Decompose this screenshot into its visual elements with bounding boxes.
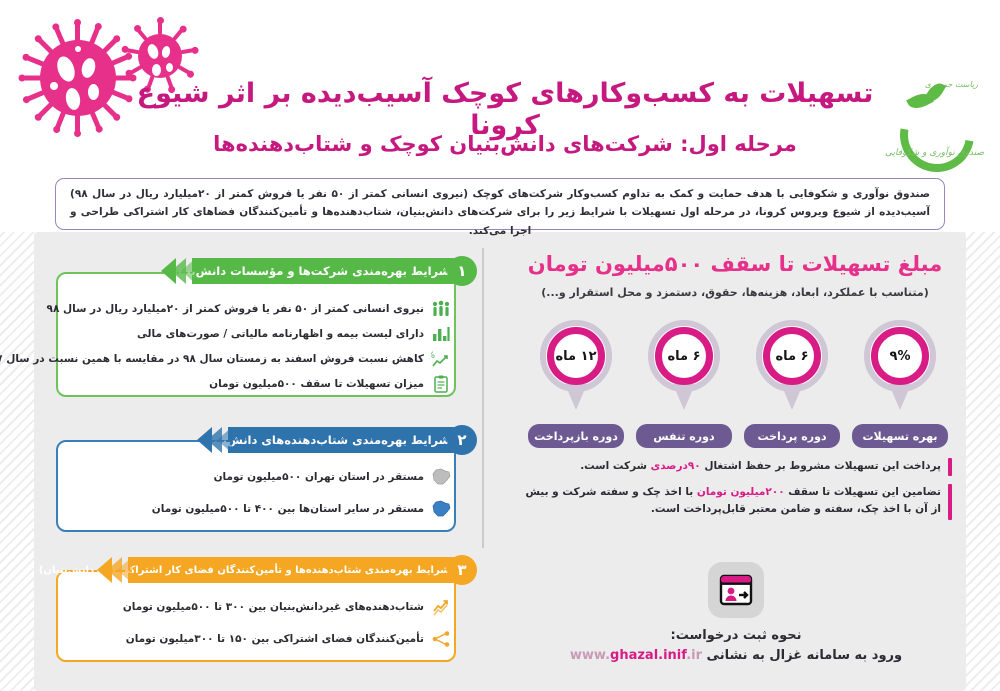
- list-item: نیروی انسانی کمتر از ۵۰ نفر یا فروش کمتر…: [64, 298, 456, 320]
- pin-value: ۹%: [890, 349, 911, 364]
- banner-chevrons-2: [176, 427, 232, 453]
- column-divider: [482, 248, 484, 548]
- pin-inner-ring: ۱۲ ماه: [547, 327, 605, 385]
- pin-marker: ۶ ماه: [744, 320, 840, 425]
- pin-tail: [889, 384, 911, 410]
- pin-inner-ring: ۹%: [871, 327, 929, 385]
- banner-chevrons-3: [76, 557, 132, 583]
- pin-tail: [565, 384, 587, 410]
- pin-label-repayment-period: دوره بازپرداخت: [528, 424, 624, 448]
- portal-url[interactable]: www.ghazal.inif.ir: [570, 648, 702, 663]
- pin-marker: ۹%: [852, 320, 948, 425]
- note-bar-icon: [948, 484, 952, 520]
- list-item-text: تأمین‌کنندگان فضای اشتراکی بین ۱۵۰ تا ۳۰…: [126, 631, 424, 647]
- list-item: مستقر در سایر استان‌ها بین ۴۰۰ تا ۵۰۰میل…: [64, 498, 456, 520]
- note-bar-icon: [948, 458, 952, 476]
- list-item: % کاهش نسبت فروش اسفند به زمستان سال ۹۸ …: [64, 348, 456, 370]
- list-item-text: کاهش نسبت فروش اسفند به زمستان سال ۹۸ در…: [0, 351, 424, 367]
- network-share-icon: [430, 628, 452, 650]
- intro-paragraph: صندوق نوآوری و شکوفایی با هدف حمایت و کم…: [70, 185, 930, 240]
- pin-labels-group: بهره تسهیلات دوره پرداخت دوره تنفس دوره …: [528, 424, 948, 448]
- pin-label-interest: بهره تسهیلات: [852, 424, 948, 448]
- list-item-text: نیروی انسانی کمتر از ۵۰ نفر یا فروش کمتر…: [47, 301, 424, 317]
- pin-label-payment-period: دوره پرداخت: [744, 424, 840, 448]
- section-number-badge-1: ۱: [447, 256, 477, 286]
- section-number-badge-2: ۲: [447, 425, 477, 455]
- note-text-plain: تضامین این تسهیلات تا سقف: [785, 486, 941, 498]
- section-banner-3: شرایط بهره‌مندی شتاب‌دهنده‌ها و تأمین‌کن…: [128, 557, 456, 583]
- note-item: تضامین این تسهیلات تا سقف ۲۰۰میلیون توما…: [520, 484, 952, 520]
- banner-chevrons-1: [140, 258, 196, 284]
- user-login-window-icon[interactable]: [708, 562, 764, 618]
- section-items-2: مستقر در استان تهران ۵۰۰میلیون تومان مست…: [56, 466, 456, 523]
- notes-list: پرداخت این تسهیلات مشروط بر حفظ اشتغال ۹…: [520, 458, 952, 528]
- registration-address-line: ورود به سامانه غزال به نشانی www.ghazal.…: [520, 648, 952, 663]
- list-item-text: شتاب‌دهنده‌های غیردانش‌بنیان بین ۳۰۰ تا …: [123, 599, 424, 615]
- pin-label-grace-period: دوره تنفس: [636, 424, 732, 448]
- section-number-1: ۱: [457, 262, 466, 280]
- organization-logo: ریاست جمهوری صندوق نوآوری و شکوفایی: [892, 72, 984, 172]
- registration-heading: نحوه ثبت درخواست:: [520, 628, 952, 643]
- logo-bottom-label: صندوق نوآوری و شکوفایی: [885, 148, 984, 158]
- iran-map-blue-icon: [430, 498, 452, 520]
- clipboard-icon: [430, 373, 452, 395]
- url-tld: .ir: [686, 648, 702, 663]
- section-number-2: ۲: [457, 431, 466, 449]
- note-item: پرداخت این تسهیلات مشروط بر حفظ اشتغال ۹…: [520, 458, 952, 476]
- amount-title: مبلغ تسهیلات تا سقف ۵۰۰میلیون تومان: [520, 252, 950, 276]
- list-item-text: مستقر در سایر استان‌ها بین ۴۰۰ تا ۵۰۰میل…: [152, 501, 424, 517]
- note-text-1: پرداخت این تسهیلات مشروط بر حفظ اشتغال ۹…: [580, 458, 941, 475]
- chevron-icon: [207, 427, 222, 453]
- note-text-plain: شرکت است.: [580, 460, 650, 472]
- iran-map-gray-icon: [430, 466, 452, 488]
- page-subtitle: مرحله اول: شرکت‌های دانش‌بنیان کوچک و شت…: [120, 132, 890, 157]
- pin-inner-ring: ۶ ماه: [763, 327, 821, 385]
- section-items-3: شتاب‌دهنده‌های غیردانش‌بنیان بین ۳۰۰ تا …: [56, 596, 456, 653]
- intro-paragraph-box: صندوق نوآوری و شکوفایی با هدف حمایت و کم…: [55, 178, 945, 230]
- list-item: تأمین‌کنندگان فضای اشتراکی بین ۱۵۰ تا ۳۰…: [64, 628, 456, 650]
- section-banner-2: شرایط بهره‌مندی شتاب‌دهنده‌های دانش‌بنیا…: [228, 427, 456, 453]
- list-item: مستقر در استان تهران ۵۰۰میلیون تومان: [64, 466, 456, 488]
- pin-tail: [673, 384, 695, 410]
- registration-address-prefix: ورود به سامانه غزال به نشانی: [702, 648, 902, 663]
- section-number-badge-3: ۳: [447, 555, 477, 585]
- url-domain: ghazal.inif: [610, 648, 686, 663]
- pin-inner-ring: ۶ ماه: [655, 327, 713, 385]
- note-text-highlight: ۹۰درصدی: [651, 460, 701, 472]
- pin-value: ۱۲ ماه: [556, 349, 597, 364]
- section-number-3: ۳: [457, 561, 466, 579]
- section-banner-1: شرایط بهره‌مندی شرکت‌ها و مؤسسات دانش‌بن…: [192, 258, 456, 284]
- note-text-highlight: ۲۰۰میلیون تومان: [697, 486, 785, 498]
- url-www: www.: [570, 648, 610, 663]
- amount-subtitle: (متناسب با عملکرد، ابعاد، هزینه‌ها، حقوق…: [520, 286, 950, 299]
- svg-text:%: %: [431, 351, 435, 361]
- pin-marker: ۱۲ ماه: [528, 320, 624, 425]
- list-item: میزان تسهیلات تا سقف ۵۰۰میلیون تومان: [64, 373, 456, 395]
- chevron-icon: [107, 557, 122, 583]
- note-text-plain: پرداخت این تسهیلات مشروط بر حفظ اشتغال: [701, 460, 941, 472]
- list-item: شتاب‌دهنده‌های غیردانش‌بنیان بین ۳۰۰ تا …: [64, 596, 456, 618]
- chevron-icon: [171, 258, 186, 284]
- pin-tail: [781, 384, 803, 410]
- percent-trend-icon: %: [430, 348, 452, 370]
- section-items-1: نیروی انسانی کمتر از ۵۰ نفر یا فروش کمتر…: [56, 298, 456, 398]
- note-text-2: تضامین این تسهیلات تا سقف ۲۰۰میلیون توما…: [520, 484, 941, 519]
- bar-chart-icon: [430, 323, 452, 345]
- list-item-text: مستقر در استان تهران ۵۰۰میلیون تومان: [214, 469, 424, 485]
- section-banner-label-1: شرایط بهره‌مندی شرکت‌ها و مؤسسات دانش‌بن…: [168, 264, 456, 278]
- registration-block: نحوه ثبت درخواست: ورود به سامانه غزال به…: [520, 562, 952, 663]
- pin-marker: ۶ ماه: [636, 320, 732, 425]
- list-item-text: میزان تسهیلات تا سقف ۵۰۰میلیون تومان: [209, 376, 424, 392]
- people-icon: [430, 298, 452, 320]
- growth-arrows-icon: [430, 596, 452, 618]
- pin-value: ۶ ماه: [775, 349, 808, 364]
- pin-value: ۶ ماه: [667, 349, 700, 364]
- section-banner-label-2: شرایط بهره‌مندی شتاب‌دهنده‌های دانش‌بنیا…: [199, 433, 456, 447]
- pin-markers-group: ۹% ۶ ماه ۶ ماه ۱۲ ماه: [528, 320, 948, 425]
- list-item: دارای لیست بیمه و اظهارنامه مالیاتی / صو…: [64, 323, 456, 345]
- list-item-text: دارای لیست بیمه و اظهارنامه مالیاتی / صو…: [137, 326, 424, 342]
